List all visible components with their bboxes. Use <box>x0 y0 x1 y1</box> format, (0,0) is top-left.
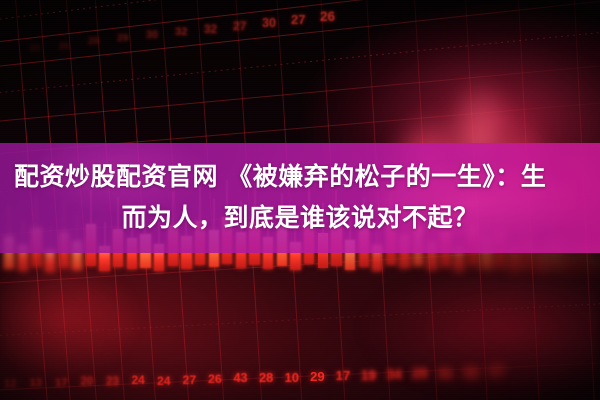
axis-label-bottom: 29 <box>310 370 325 383</box>
axis-label-bottom: 28 <box>259 372 273 385</box>
axis-label-top: 26 <box>320 10 335 24</box>
axis-label-top: 26 <box>59 41 69 50</box>
axis-label-bottom: 37 <box>489 365 505 379</box>
axis-label-top: 28 <box>88 37 99 47</box>
axis-label-top: 32 <box>175 27 188 38</box>
axis-label-bottom: 20 <box>81 377 94 389</box>
axis-label-bottom: 31 <box>438 366 454 380</box>
banner-image: 1213172023242427264328102917193429313237… <box>0 0 600 400</box>
axis-label-bottom: 19 <box>361 369 376 383</box>
axis-label-bottom: 32 <box>463 366 479 380</box>
axis-label-top: 27 <box>233 20 247 32</box>
axis-label-bottom: 29 <box>412 367 427 381</box>
axis-label-top: 30 <box>262 17 276 30</box>
axis-label-bottom: 10 <box>285 371 299 384</box>
axis-label-top: 23 <box>30 44 40 53</box>
axis-label-bottom: 12 <box>4 379 16 390</box>
banner-title-line-2: 而为人，到底是谁该说对不起？ <box>0 197 600 238</box>
axis-label-bottom: 43 <box>234 372 248 385</box>
axis-label-bottom: 17 <box>55 378 68 389</box>
axis-label-bottom: 24 <box>157 375 170 387</box>
axis-label-bottom: 27 <box>183 374 197 386</box>
axis-label-top: 29 <box>117 34 128 44</box>
axis-label-top: 30 <box>146 30 158 41</box>
axis-label-bottom: 24 <box>132 375 145 387</box>
axis-label-top: 32 <box>204 24 217 36</box>
axis-label-bottom: 13 <box>30 378 42 389</box>
axis-label-top: 27 <box>291 13 306 26</box>
axis-label-bottom: 34 <box>387 368 402 382</box>
banner-title-line-1: 配资炒股配资官网 《被嫌弃的松子的一生》：生 <box>0 156 600 197</box>
axis-label-bottom: 26 <box>208 373 222 385</box>
axis-label-bottom: 17 <box>336 369 351 382</box>
banner-title: 配资炒股配资官网 《被嫌弃的松子的一生》：生 而为人，到底是谁该说对不起？ <box>0 156 600 238</box>
axis-label-bottom: 23 <box>106 376 119 388</box>
